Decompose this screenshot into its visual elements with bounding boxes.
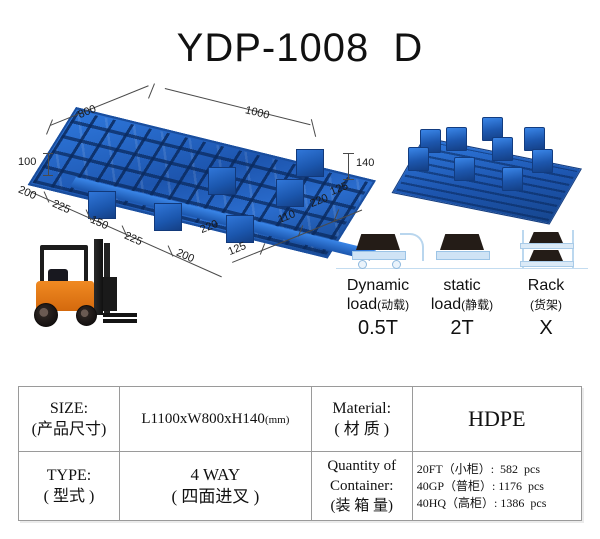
rack-load-value: X [504, 316, 588, 340]
pallet-foot [226, 215, 254, 243]
forklift-photo [24, 233, 130, 333]
static-load-line1: static [420, 276, 504, 295]
load-block-shape [529, 232, 563, 243]
cell-container-label: Quantity of Container: (装 箱 量) [311, 452, 412, 521]
dynamic-load-cn: (动载) [377, 298, 409, 312]
size-value-main: L1100xW800xH140 [141, 411, 265, 427]
table-row: SIZE: (产品尺寸) L1100xW800xH140(mm) Materia… [19, 387, 582, 452]
rack-shelf [520, 243, 574, 249]
cart-wheel [358, 260, 367, 269]
dim-front-left-4: 200 [174, 247, 196, 265]
size-value-unit: (mm) [265, 414, 289, 426]
pallet-foot [154, 203, 182, 231]
forklift-fork [103, 319, 137, 323]
forklift-mast [94, 239, 103, 315]
plastic-pallet-top-perspective [36, 115, 356, 230]
load-capacity-group: Dynamic load(动载) 0.5T static load(静载) 2T [336, 228, 588, 346]
forklift-carriage [103, 277, 117, 311]
forklift-wheel [76, 305, 97, 326]
qty-line-20ft: 20FT（小柜）: 582 pcs [417, 461, 577, 478]
static-load-en: load [431, 296, 461, 313]
forklift-fork [103, 313, 137, 317]
dynamic-load-en: load [347, 296, 377, 313]
load-block-shape [356, 234, 400, 250]
pallet-foot [276, 179, 304, 207]
load-block-shape [440, 234, 484, 250]
page-title: YDP-1008 D [0, 26, 600, 71]
cell-size-label: SIZE: (产品尺寸) [19, 387, 120, 452]
pallet-leg [524, 127, 545, 151]
static-load-icon [420, 228, 504, 276]
static-load-line2: load(静载) [420, 295, 504, 315]
dim-100: 100 [18, 156, 36, 168]
forklift-cab-post [84, 247, 88, 283]
pallet-leg [454, 157, 475, 181]
static-load-block: static load(静载) 2T [420, 228, 504, 340]
pallet-leg [446, 127, 467, 151]
dynamic-load-block: Dynamic load(动载) 0.5T [336, 228, 420, 340]
dynamic-load-line1: Dynamic [336, 276, 420, 295]
pallet-leg [492, 137, 513, 161]
dim-140: 140 [356, 157, 374, 169]
pallet-leg [502, 167, 523, 191]
cell-type-label: TYPE: ( 型式 ) [19, 452, 120, 521]
dimension-tick [348, 153, 349, 179]
pallet-leg [532, 149, 553, 173]
qty-line-40hq: 40HQ（高柜）: 1386 pcs [417, 495, 577, 512]
dynamic-load-line2: load(动载) [336, 295, 420, 315]
forklift-roof [40, 245, 88, 250]
static-load-cn: (静载) [461, 298, 493, 312]
cell-container-value: 20FT（小柜）: 582 pcs 40GP（普柜）: 1176 pcs 40H… [412, 452, 581, 521]
forklift-cab-post [40, 247, 44, 285]
pallet-outline [352, 251, 406, 260]
dimension-tick [48, 153, 49, 175]
load-block-shape [529, 250, 563, 261]
rack-load-block: Rack (货架) X [504, 228, 588, 340]
dynamic-load-icon [336, 228, 420, 276]
rack-load-icon [504, 228, 588, 276]
rack-load-line2: (货架) [504, 295, 588, 315]
rack-shelf [520, 261, 574, 267]
dimension-line [43, 153, 53, 154]
pallet-foot [208, 167, 236, 195]
static-load-value: 2T [420, 316, 504, 340]
cell-material-value: HDPE [412, 387, 581, 452]
table-row: TYPE: ( 型式 ) 4 WAY ( 四面进叉 ) Quantity of … [19, 452, 582, 521]
rack-load-cn: (货架) [530, 298, 562, 312]
product-illustration: 800 1000 100 140 200 225 150 225 200 125… [0, 95, 600, 350]
rack-load-line1: Rack [504, 276, 588, 295]
pallet-leg [408, 147, 429, 171]
forklift-wheel [34, 303, 58, 327]
dimension-line [43, 175, 53, 176]
dimension-line [343, 153, 354, 154]
dimension-tick [148, 83, 155, 98]
plastic-pallet-underside-view [398, 113, 568, 213]
pallet-foot [296, 149, 324, 177]
dynamic-load-value: 0.5T [336, 316, 420, 340]
cell-material-label: Material: ( 材 质 ) [311, 387, 412, 452]
specification-table: SIZE: (产品尺寸) L1100xW800xH140(mm) Materia… [18, 386, 582, 521]
cell-size-value: L1100xW800xH140(mm) [120, 387, 312, 452]
cart-wheel [392, 260, 401, 269]
pallet-outline [436, 251, 490, 260]
cell-type-value: 4 WAY ( 四面进叉 ) [120, 452, 312, 521]
qty-line-40gp: 40GP（普柜）: 1176 pcs [417, 478, 577, 495]
